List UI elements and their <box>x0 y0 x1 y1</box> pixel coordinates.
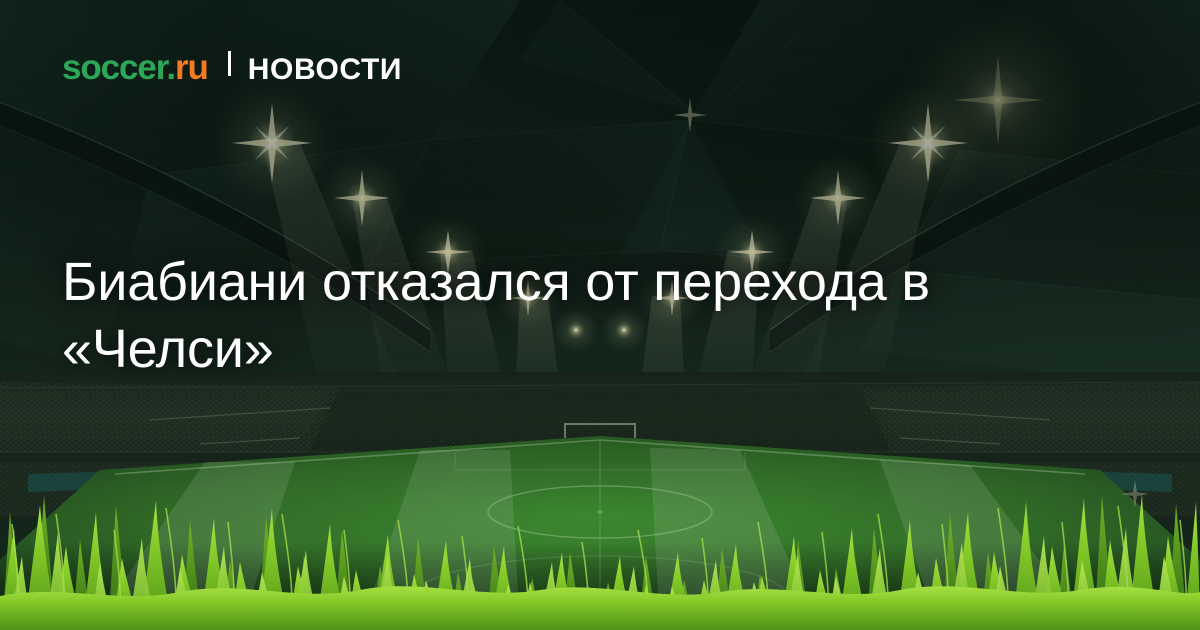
wordmark-primary: soccer. <box>62 48 175 87</box>
wordmark-suffix: ru <box>175 48 208 87</box>
article-headline: Биабиани отказался от перехода в «Челси» <box>62 249 1102 383</box>
section-label: НОВОСТИ <box>248 55 402 85</box>
site-logo-bar[interactable]: soccer.ru НОВОСТИ <box>62 50 402 85</box>
news-share-card: soccer.ru НОВОСТИ Биабиани отказался от … <box>0 0 1200 630</box>
site-wordmark[interactable]: soccer.ru <box>62 50 208 85</box>
logo-divider <box>228 51 231 76</box>
